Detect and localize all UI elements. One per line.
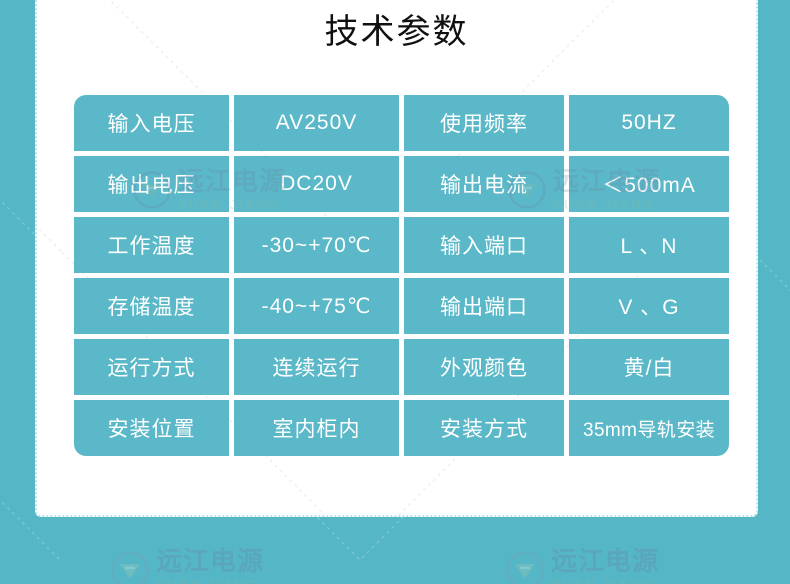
table-cell-value: -40~+75℃ xyxy=(234,278,399,334)
watermark-cn: 远江电源 xyxy=(551,548,659,574)
table-cell-value: 35mm导轨安装 xyxy=(569,400,729,456)
watermark: 远江电源 YUAN JIANG xyxy=(110,548,264,584)
watermark-en: YUAN JIANG xyxy=(551,578,659,584)
table-cell-label: 运行方式 xyxy=(74,339,229,395)
table-cell-value: L 、N xyxy=(569,217,729,273)
watermark-text: 远江电源 YUAN JIANG xyxy=(156,548,264,584)
table-cell-value: 黄/白 xyxy=(569,339,729,395)
table-cell-value: DC20V xyxy=(234,156,399,212)
table-cell-label: 外观颜色 xyxy=(404,339,564,395)
table-cell-value: 连续运行 xyxy=(234,339,399,395)
table-cell-value: V 、G xyxy=(569,278,729,334)
table-cell-label: 输出电流 xyxy=(404,156,564,212)
watermark: 远江电源 YUAN JIANG xyxy=(505,548,659,584)
watermark-en: YUAN JIANG xyxy=(156,578,264,584)
table-cell-label: 输入端口 xyxy=(404,217,564,273)
table-cell-value: -30~+70℃ xyxy=(234,217,399,273)
table-cell-label: 输入电压 xyxy=(74,95,229,151)
table-cell-label: 工作温度 xyxy=(74,217,229,273)
table-cell-label: 输出端口 xyxy=(404,278,564,334)
watermark-text: 远江电源 YUAN JIANG xyxy=(551,548,659,584)
table-cell-value: 50HZ xyxy=(569,95,729,151)
circle-logo-icon xyxy=(505,550,545,584)
table-cell-label: 存储温度 xyxy=(74,278,229,334)
table-cell-value: AV250V xyxy=(234,95,399,151)
table-cell-value: 室内柜内 xyxy=(234,400,399,456)
table-cell-label: 安装方式 xyxy=(404,400,564,456)
table-cell-value: ＜500mA xyxy=(569,156,729,212)
page-title: 技术参数 xyxy=(37,10,756,54)
table-cell-label: 使用频率 xyxy=(404,95,564,151)
table-cell-label: 安装位置 xyxy=(74,400,229,456)
watermark-cn: 远江电源 xyxy=(156,548,264,574)
page-background: 技术参数 远江电源 YUAN JIANG 远江电源 YUAN JIANG xyxy=(0,0,790,584)
circle-logo-icon xyxy=(110,550,150,584)
table-cell-label: 输出电压 xyxy=(74,156,229,212)
spec-table: 输入电压 AV250V 使用频率 50HZ 输出电压 DC20V 输出电流 ＜5… xyxy=(74,95,722,456)
content-card: 技术参数 远江电源 YUAN JIANG 远江电源 YUAN JIANG xyxy=(35,0,758,517)
